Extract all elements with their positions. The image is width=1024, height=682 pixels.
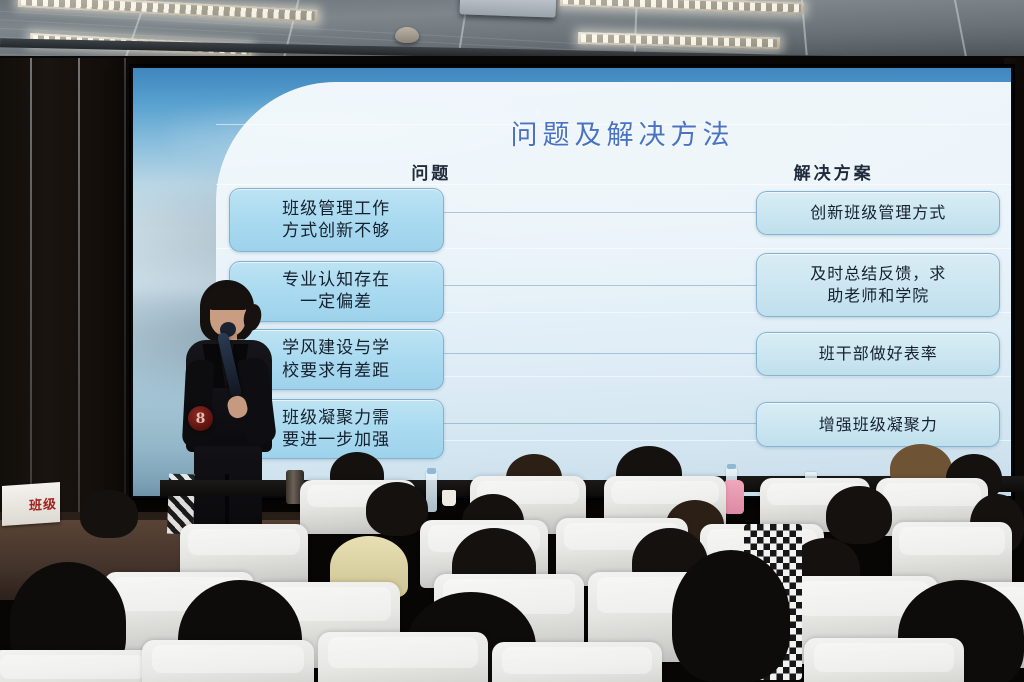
problem-box-1-line1: 班级管理工作 [282,198,390,220]
audience-chair-foreground [492,642,662,682]
presenter-number-badge-text: 8 [196,411,206,427]
audience-area [0,432,1024,682]
solution-box-3-line1: 班干部做好表率 [819,343,938,364]
water-bottle-1-cap [427,468,436,474]
slide-title: 问题及解决方法 [216,113,1011,152]
problem-box-4-line1: 班级凝聚力需 [282,407,390,429]
column-header-solutions: 解决方案 [794,159,874,184]
ceiling-light-row-3 [560,0,804,15]
problem-box-2-line2: 一定偏差 [282,291,390,313]
presenter-number-badge: 8 [188,406,213,431]
problem-box-1-line2: 方式创新不够 [282,220,390,242]
audience-chair-foreground [318,632,488,682]
audience-chair-foreground [142,640,314,682]
audience-head [366,482,428,536]
pink-bag [724,480,744,514]
audience-chair-foreground [804,638,964,682]
solution-box-3[interactable]: 班干部做好表率 [756,332,1000,377]
audience-chair-foreground [0,650,156,682]
solution-box-1[interactable]: 创新班级管理方式 [756,191,1000,236]
ceiling-projector [460,0,557,18]
column-header-problems: 问题 [411,159,451,184]
solution-box-2-line2: 助老师和学院 [810,285,946,306]
solution-box-2-line1: 及时总结反馈，求 [810,263,946,284]
audience-head [826,486,892,544]
water-bottle-2-cap [727,464,736,469]
foreground-head [672,550,790,682]
ceiling-light-row-4 [578,32,780,49]
solution-box-1-line1: 创新班级管理方式 [810,202,946,223]
problem-box-3-line2: 校要求有差距 [282,360,390,382]
problem-box-3-line1: 学风建设与学 [282,337,390,359]
problem-box-2-line1: 专业认知存在 [282,269,390,291]
paper-cup [442,490,456,506]
problem-box-1[interactable]: 班级管理工作 方式创新不够 [229,188,444,251]
ceiling-smoke-detector [395,27,419,43]
presenter-fringe [206,288,250,310]
audience-head [80,490,138,538]
photo-scene: 班级 问题及解决方法 问题 解决方案 [0,0,1024,682]
solution-box-2[interactable]: 及时总结反馈，求 助老师和学院 [756,253,1000,317]
